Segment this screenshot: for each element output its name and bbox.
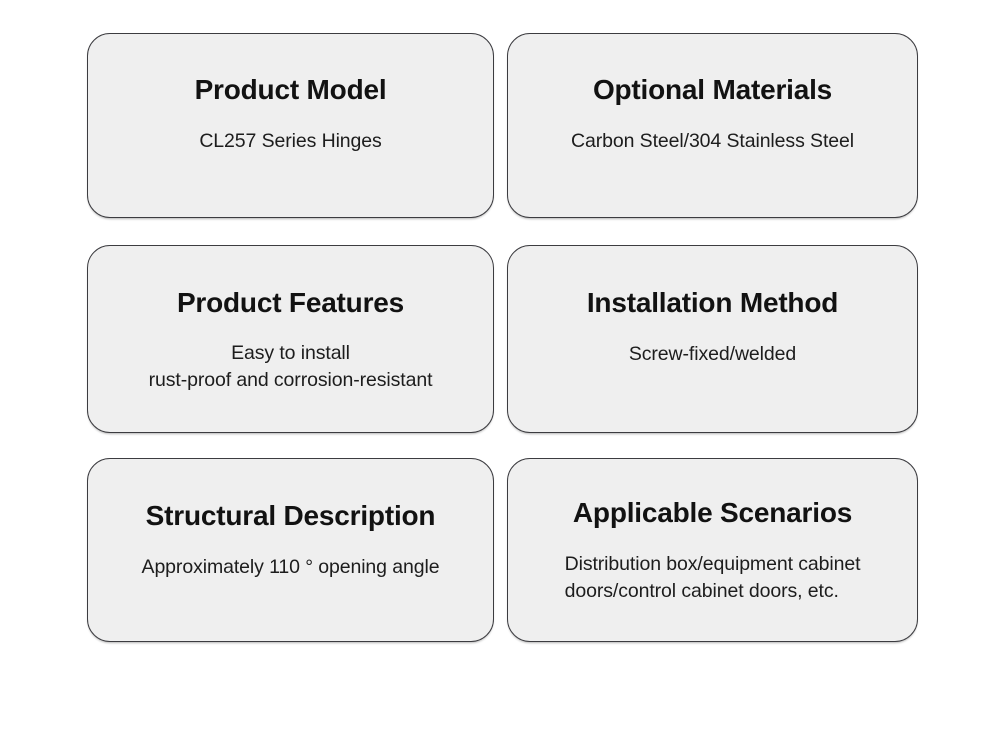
spec-card-body: Carbon Steel/304 Stainless Steel <box>571 128 854 155</box>
spec-card-title: Installation Method <box>508 287 917 319</box>
product-spec-card-grid: Product Model CL257 Series Hinges Option… <box>0 0 1000 737</box>
spec-card-title: Structural Description <box>88 500 493 532</box>
spec-card-body: Screw-fixed/welded <box>629 341 796 368</box>
spec-card-body: Approximately 110 ° opening angle <box>142 554 440 581</box>
spec-card-title: Product Model <box>88 74 493 106</box>
spec-card-product-features: Product Features Easy to install rust-pr… <box>87 245 494 433</box>
spec-card-installation-method: Installation Method Screw-fixed/welded <box>507 245 918 433</box>
spec-card-title: Optional Materials <box>508 74 917 106</box>
spec-card-optional-materials: Optional Materials Carbon Steel/304 Stai… <box>507 33 918 218</box>
spec-card-body: Easy to install rust-proof and corrosion… <box>149 340 433 394</box>
spec-card-body: Distribution box/equipment cabinet doors… <box>565 551 861 605</box>
spec-card-title: Applicable Scenarios <box>508 497 917 529</box>
spec-card-body: CL257 Series Hinges <box>199 128 381 155</box>
spec-card-applicable-scenarios: Applicable Scenarios Distribution box/eq… <box>507 458 918 642</box>
spec-card-structural-description: Structural Description Approximately 110… <box>87 458 494 642</box>
spec-card-product-model: Product Model CL257 Series Hinges <box>87 33 494 218</box>
spec-card-title: Product Features <box>88 287 493 319</box>
